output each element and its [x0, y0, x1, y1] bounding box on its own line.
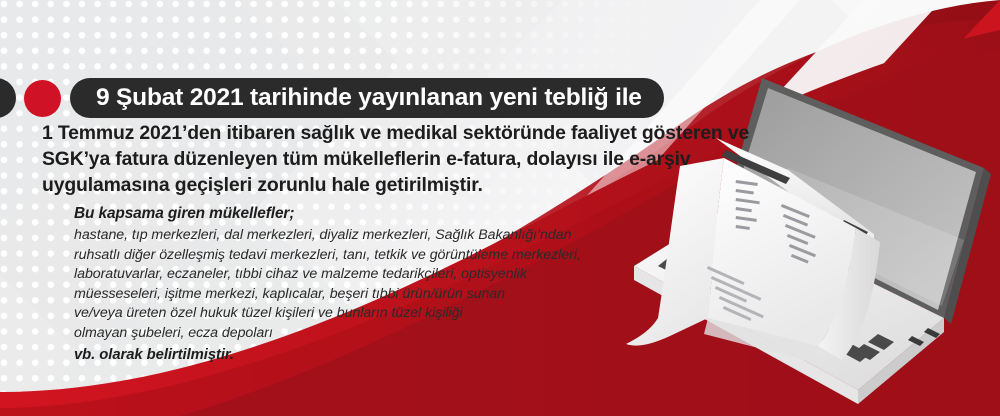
lede-line: uygulamasına geçişleri zorunlu hale geti…	[42, 174, 483, 196]
scope-heading: Bu kapsama giren mükellefler;	[74, 203, 634, 224]
headline-badge-row: 9 Şubat 2021 tarihinde yayınlanan yeni t…	[0, 78, 664, 118]
red-circle-icon	[24, 80, 61, 117]
scope-line: ve/veya üreten özel hukuk tüzel kişileri…	[74, 304, 634, 324]
banner-content: 9 Şubat 2021 tarihinde yayınlanan yeni t…	[0, 0, 720, 416]
lede-paragraph: 1 Temmuz 2021’den itibaren sağlık ve med…	[42, 120, 754, 198]
lede-line: 1 Temmuz 2021’den itibaren sağlık ve med…	[42, 122, 723, 144]
scope-footer: vb. olarak belirtilmiştir.	[74, 345, 634, 365]
scope-line: hastane, tıp merkezleri, dal merkezleri,…	[74, 226, 634, 246]
scope-line: müesseseleri, işitme merkezi, kaplıcalar…	[74, 285, 634, 305]
scope-block: Bu kapsama giren mükellefler; hastane, t…	[74, 203, 634, 365]
headline-pill: 9 Şubat 2021 tarihinde yayınlanan yeni t…	[70, 78, 664, 118]
scope-list: hastane, tıp merkezleri, dal merkezleri,…	[74, 226, 634, 344]
scope-line: olmayan şubeleri, ecza depoları	[74, 324, 634, 344]
scope-line: laboratuvarlar, eczaneler, tıbbi cihaz v…	[74, 265, 634, 285]
scope-line: ruhsatlı diğer özelleşmiş tedavi merkezl…	[74, 246, 634, 266]
black-circle-icon	[0, 78, 16, 118]
promo-banner: 9 Şubat 2021 tarihinde yayınlanan yeni t…	[0, 0, 1000, 416]
